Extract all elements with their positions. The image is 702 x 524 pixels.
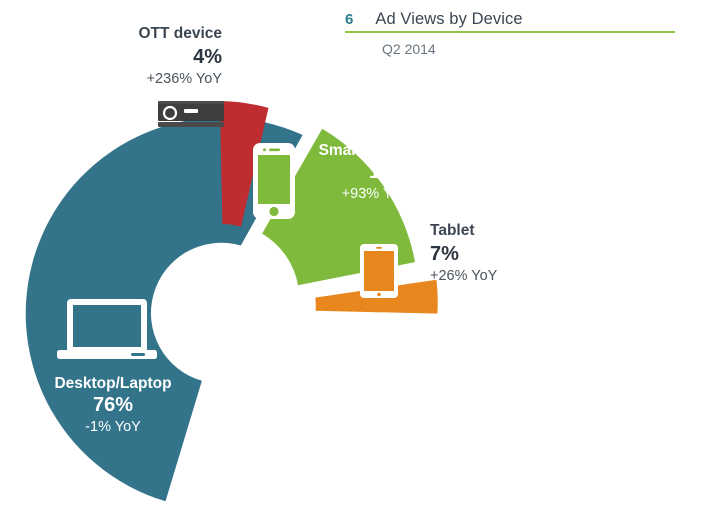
slice-percent-smartphone: 13% xyxy=(289,160,409,185)
slice-name-smartphone: Smartphone xyxy=(289,142,409,160)
slice-percent-desktop-laptop: 76% xyxy=(48,393,178,418)
tablet-icon xyxy=(359,243,399,299)
slice-name-ott-device: OTT device xyxy=(92,25,222,44)
slice-label-ott-device: OTT device 4% +236% YoY xyxy=(92,25,222,88)
slice-name-tablet: Tablet xyxy=(430,222,560,241)
slice-yoy-ott-device: +236% YoY xyxy=(92,70,222,89)
laptop-icon xyxy=(57,298,157,362)
slice-label-smartphone: Smartphone 13% +93% YoY xyxy=(289,142,409,204)
slice-percent-ott-device: 4% xyxy=(92,44,222,70)
set-top-box-icon xyxy=(158,101,224,127)
slice-percent-tablet: 7% xyxy=(430,241,560,267)
slice-label-desktop-laptop: Desktop/Laptop 76% -1% YoY xyxy=(48,375,178,437)
slice-yoy-smartphone: +93% YoY xyxy=(289,185,409,204)
slice-yoy-desktop-laptop: -1% YoY xyxy=(48,418,178,437)
slice-yoy-tablet: +26% YoY xyxy=(430,267,560,286)
slice-name-desktop-laptop: Desktop/Laptop xyxy=(48,375,178,393)
slice-label-tablet: Tablet 7% +26% YoY xyxy=(430,222,560,285)
